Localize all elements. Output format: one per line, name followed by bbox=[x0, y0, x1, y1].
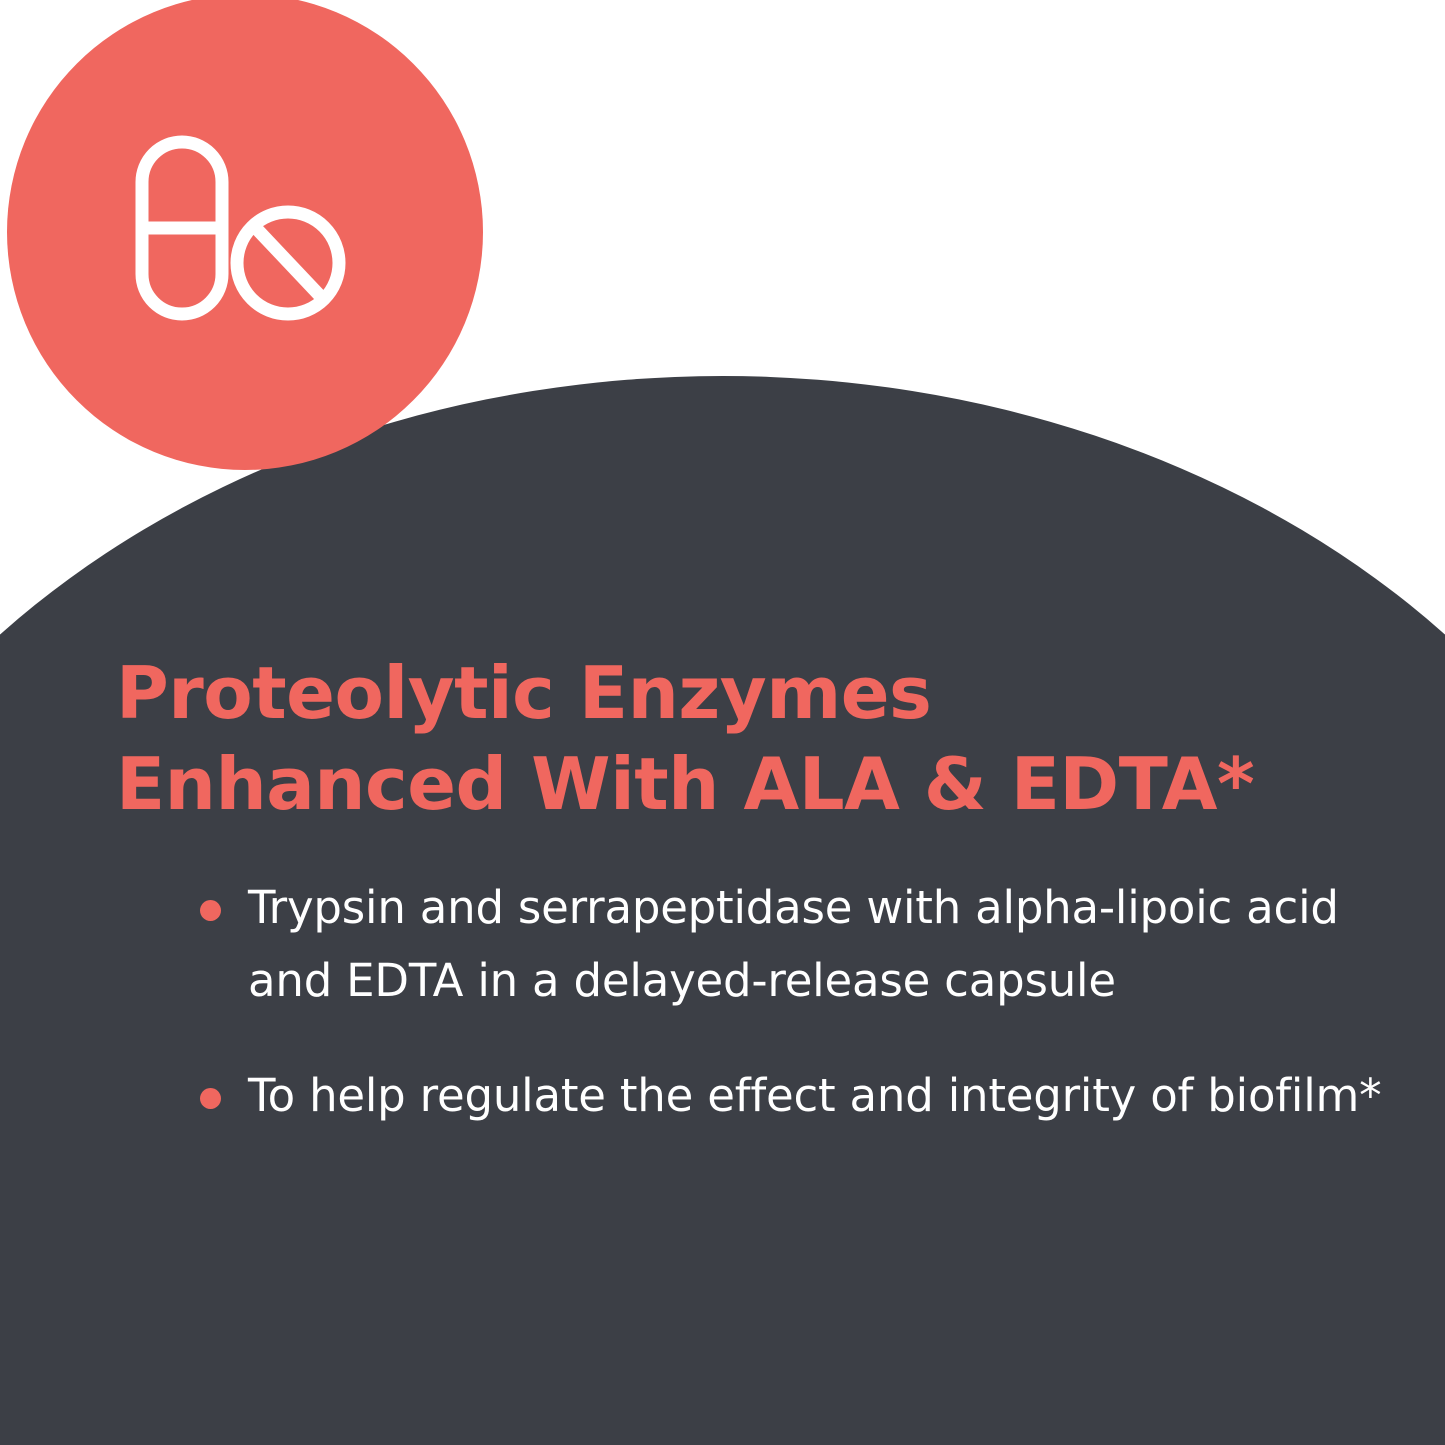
feature-bullet-list: Trypsin and serrapeptidase with alpha-li… bbox=[196, 872, 1396, 1133]
bullet-dot-icon bbox=[200, 1088, 221, 1109]
list-item: To help regulate the effect and integrit… bbox=[196, 1060, 1396, 1133]
headline-line-1: Proteolytic Enzymes bbox=[116, 648, 1406, 739]
list-item: Trypsin and serrapeptidase with alpha-li… bbox=[196, 872, 1396, 1018]
list-item-text: To help regulate the effect and integrit… bbox=[248, 1069, 1381, 1122]
list-item-text: Trypsin and serrapeptidase with alpha-li… bbox=[248, 881, 1339, 1007]
bullet-dot-icon bbox=[200, 900, 221, 921]
product-feature-card: Proteolytic Enzymes Enhanced With ALA & … bbox=[0, 0, 1445, 1445]
card-content: Proteolytic Enzymes Enhanced With ALA & … bbox=[0, 0, 1445, 1445]
headline-line-2: Enhanced With ALA & EDTA* bbox=[116, 739, 1406, 830]
page-title: Proteolytic Enzymes Enhanced With ALA & … bbox=[116, 648, 1406, 829]
